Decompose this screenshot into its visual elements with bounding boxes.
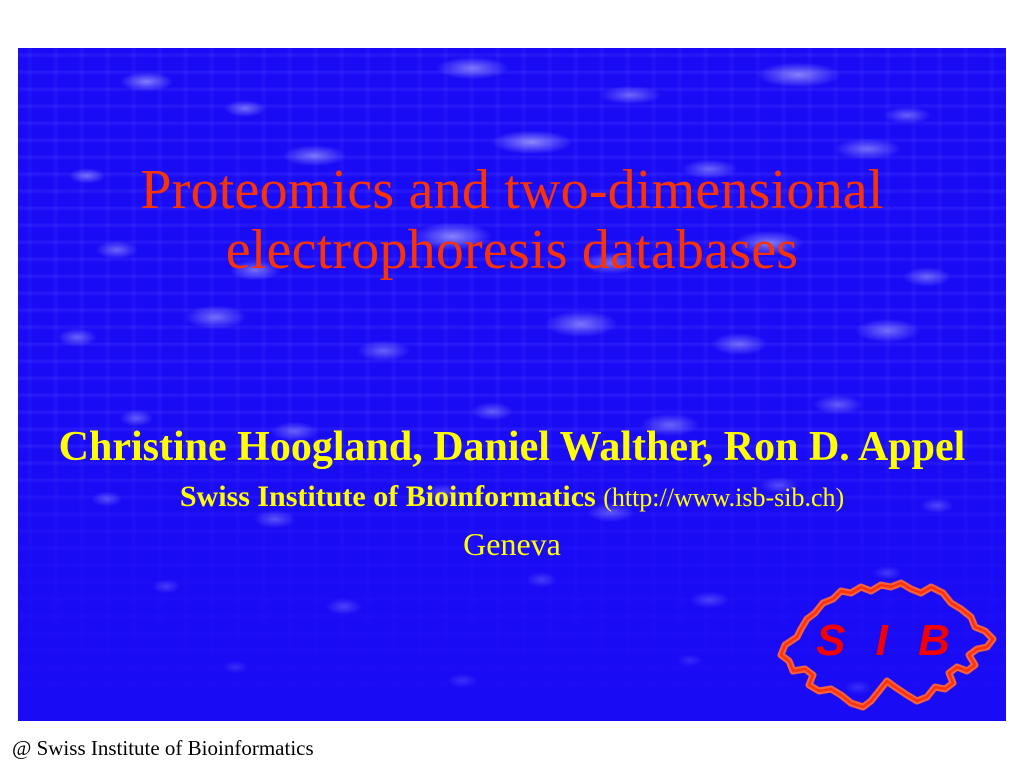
affiliation-url[interactable]: (http://www.isb-sib.ch) <box>603 483 844 512</box>
sib-logo: S I B <box>775 575 1000 715</box>
affiliation-name: Swiss Institute of Bioinformatics <box>180 480 596 513</box>
slide-authors-block: Christine Hoogland, Daniel Walther, Ron … <box>18 426 1006 560</box>
title-line-2: electrophoresis databases <box>18 220 1006 280</box>
footer-copyright: @ Swiss Institute of Bioinformatics <box>12 736 314 761</box>
author-names: Christine Hoogland, Daniel Walther, Ron … <box>18 426 1006 468</box>
affiliation: Swiss Institute of Bioinformatics (http:… <box>18 482 1006 512</box>
presentation-slide: Proteomics and two-dimensional electroph… <box>18 48 1006 721</box>
affiliation-city: Geneva <box>18 528 1006 560</box>
slide-title: Proteomics and two-dimensional electroph… <box>18 160 1006 281</box>
title-line-1: Proteomics and two-dimensional <box>18 160 1006 220</box>
sib-logo-text: S I B <box>775 619 1000 663</box>
